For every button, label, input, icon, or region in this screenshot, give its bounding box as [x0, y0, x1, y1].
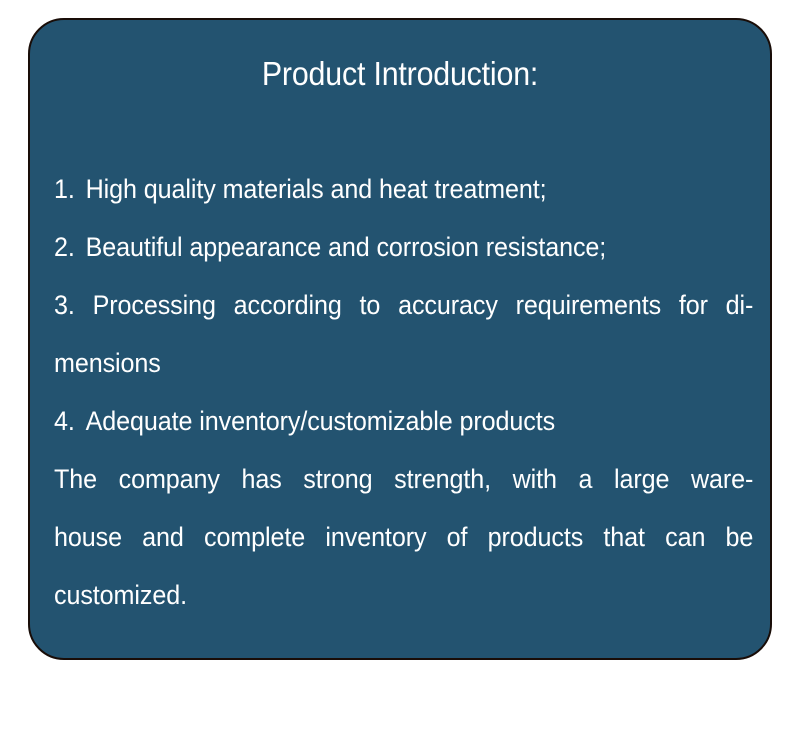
product-introduction-card: Product Introduction: 1.High quality mat… — [28, 18, 772, 660]
paragraph-word: of — [447, 508, 468, 566]
list-item-number: 2. — [54, 218, 86, 276]
paragraph-word: products — [488, 508, 584, 566]
paragraph-line: The company has strong strength, with a … — [54, 450, 753, 508]
list-item-word: Processing — [93, 276, 216, 334]
paragraph-line: house and complete inventory of products… — [54, 508, 753, 566]
paragraph-word: can — [665, 508, 705, 566]
list-item-word: di- — [726, 276, 754, 334]
paragraph-word: strength, — [394, 450, 491, 508]
paragraph-line: customized. — [54, 566, 705, 624]
paragraph-text: customized. — [54, 580, 187, 610]
paragraph-word: a — [579, 450, 593, 508]
paragraph-word: complete — [204, 508, 305, 566]
paragraph-word: and — [142, 508, 184, 566]
paragraph-word: company — [119, 450, 220, 508]
list-item-number: 1. — [54, 160, 86, 218]
page-root: Product Introduction: 1.High quality mat… — [0, 0, 800, 732]
paragraph-word: that — [603, 508, 645, 566]
paragraph-word: ware- — [691, 450, 753, 508]
list-item-word: according — [234, 276, 342, 334]
list-item-label: mensions — [54, 348, 161, 378]
paragraph-word: house — [54, 508, 122, 566]
list-item-label: Beautiful appearance and corrosion resis… — [86, 232, 607, 262]
list-item-number: 4. — [54, 392, 86, 450]
list-item-continuation: mensions — [54, 334, 705, 392]
list-item: 3. Processing according to accuracy requ… — [54, 276, 753, 334]
paragraph-word: large — [614, 450, 669, 508]
list-item: 1.High quality materials and heat treatm… — [54, 160, 705, 218]
list-item: 2.Beautiful appearance and corrosion res… — [54, 218, 705, 276]
list-item-word: accuracy — [398, 276, 498, 334]
page-title: Product Introduction: — [60, 54, 741, 94]
list-item-word: requirements — [516, 276, 661, 334]
list-item-word: for — [679, 276, 708, 334]
paragraph-word: be — [726, 508, 754, 566]
list-item-label: Adequate inventory/customizable products — [86, 406, 555, 436]
paragraph-word: strong — [303, 450, 372, 508]
paragraph-word: has — [241, 450, 281, 508]
paragraph-word: with — [513, 450, 557, 508]
paragraph-word: inventory — [325, 508, 426, 566]
list-item: 4.Adequate inventory/customizable produc… — [54, 392, 705, 450]
paragraph-word: The — [54, 450, 97, 508]
list-item-number: 3. — [54, 276, 75, 334]
list-item-label: High quality materials and heat treatmen… — [86, 174, 547, 204]
list-item-word: to — [360, 276, 381, 334]
introduction-body: 1.High quality materials and heat treatm… — [54, 160, 754, 624]
